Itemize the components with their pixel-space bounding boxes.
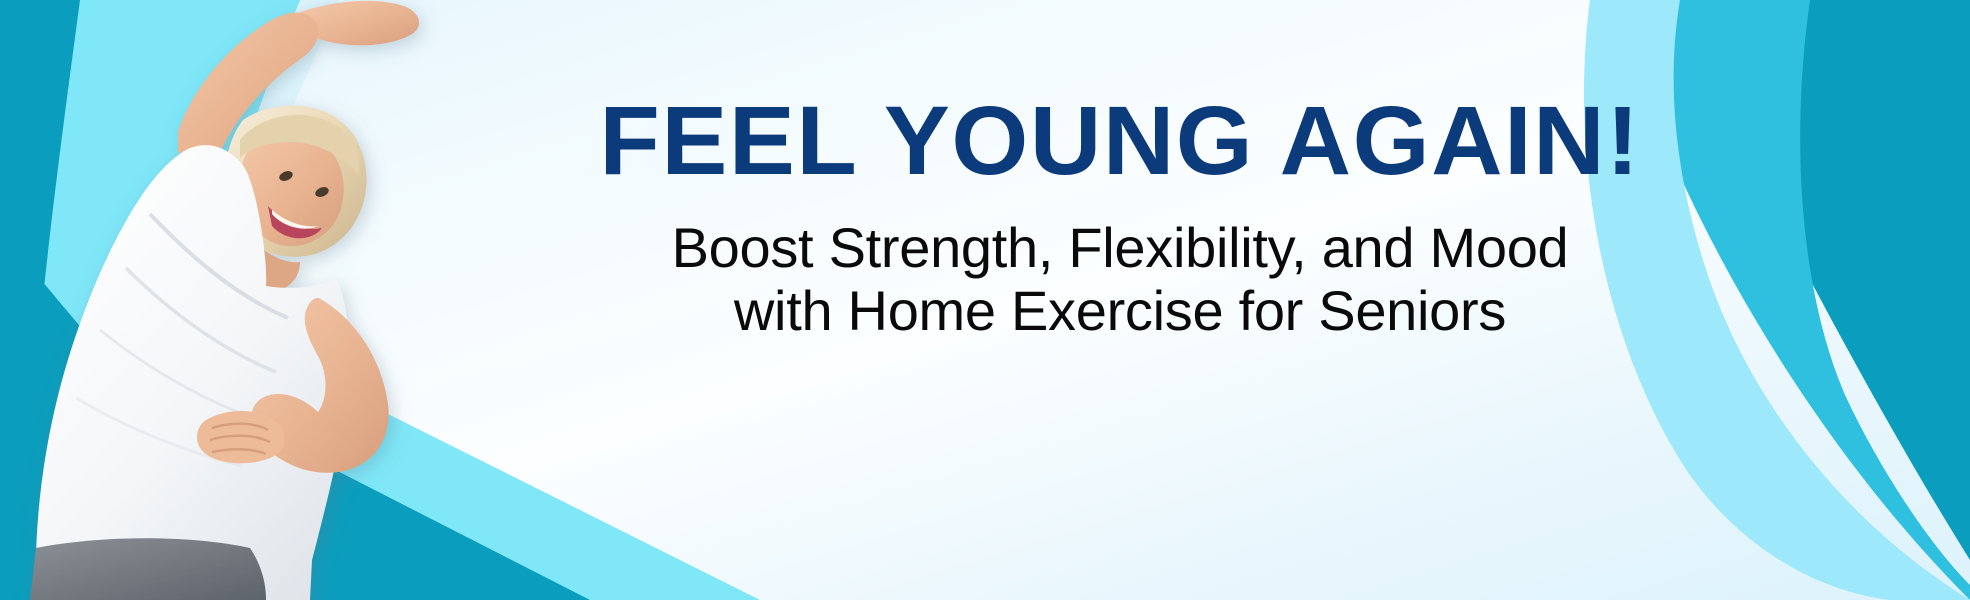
hero-banner: FEEL YOUNG AGAIN! Boost Strength, Flexib… — [0, 0, 1970, 600]
banner-subtitle: Boost Strength, Flexibility, and Mood wi… — [360, 217, 1880, 342]
page-title: FEEL YOUNG AGAIN! — [345, 92, 1895, 191]
subtitle-line-1: Boost Strength, Flexibility, and Mood — [360, 217, 1880, 280]
banner-text-block: FEEL YOUNG AGAIN! Boost Strength, Flexib… — [360, 92, 1880, 342]
subtitle-line-2: with Home Exercise for Seniors — [360, 280, 1880, 343]
